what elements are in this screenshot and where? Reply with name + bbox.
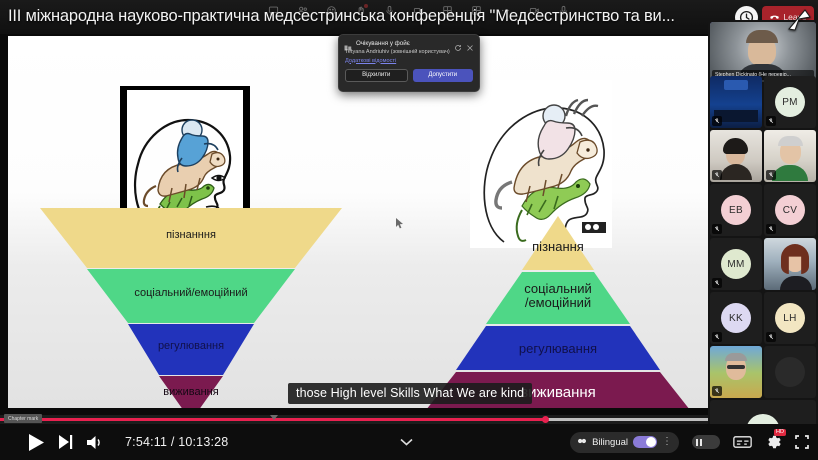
cursor-arrow-icon <box>786 8 812 34</box>
participant-tile-empty[interactable] <box>764 346 816 398</box>
timecode: 7:54:11 / 10:13:28 <box>125 435 228 449</box>
mic-off-icon <box>712 278 722 288</box>
mic-off-icon <box>766 170 776 180</box>
pause-toggle-icon[interactable] <box>692 435 720 449</box>
chevron-down-icon[interactable] <box>400 433 413 451</box>
live-caption: those High level Skills What We are kind <box>288 383 532 404</box>
progress-hover-chip: Chapter mark <box>4 414 42 423</box>
progress-thumb[interactable] <box>542 416 549 423</box>
bilingual-switch[interactable] <box>633 436 657 448</box>
captions-icon[interactable] <box>733 435 752 449</box>
avatar: EB <box>721 195 751 225</box>
admit-button[interactable]: Допустити <box>413 69 474 82</box>
participant-tile[interactable]: EB <box>710 184 762 236</box>
avatar-placeholder <box>775 357 805 387</box>
mic-off-icon <box>712 386 722 396</box>
meeting-title-bar: III міжнародна науково-практична медсест… <box>0 0 818 34</box>
participant-tile[interactable] <box>710 130 762 182</box>
mic-off-icon <box>766 116 776 126</box>
bilingual-icon <box>577 433 587 451</box>
pyramid-label: регулювання <box>40 341 342 353</box>
avatar: MM <box>721 249 751 279</box>
pyramid-band-cognition: пізнанння <box>40 208 342 268</box>
mic-off-icon <box>712 224 722 234</box>
progress-bar[interactable]: Chapter mark <box>0 415 708 424</box>
volume-icon[interactable] <box>86 435 102 450</box>
avatar: CV <box>775 195 805 225</box>
pyramid-label: пізнання <box>408 240 708 254</box>
participant-tile[interactable]: PM <box>764 76 816 128</box>
player-control-bar: 7:54:11 / 10:13:28 Bilingual ⋮ <box>0 424 818 460</box>
play-icon[interactable] <box>28 433 45 452</box>
mic-off-icon <box>766 224 776 234</box>
dialog-actions: Відхилити Допустити <box>339 64 479 87</box>
mic-off-icon <box>766 332 776 342</box>
upright-pyramid-right: пізнання соціальний /емоційний регулюван… <box>408 212 708 408</box>
participant-tile[interactable] <box>710 76 762 128</box>
participant-tile[interactable]: CV <box>764 184 816 236</box>
dialog-title: Очікування у фойє <box>356 40 450 47</box>
participant-tile[interactable]: MM <box>710 238 762 290</box>
pyramid-band-social-emotional: соціальний/емоційний <box>40 269 342 323</box>
pyramid-label: соціальний /емоційний <box>408 282 708 309</box>
dialog-header: Очікування у фойє <box>339 35 479 48</box>
next-track-icon[interactable] <box>58 434 73 450</box>
pyramid-band-regulation: регулювання <box>40 324 342 375</box>
chapter-marker[interactable] <box>270 415 278 420</box>
participant-tile[interactable]: LH <box>764 292 816 344</box>
pyramid-label: пізнанння <box>40 230 342 242</box>
teams-recording-player: III міжнародна науково-практична медсест… <box>0 0 818 460</box>
pyramid-label: регулювання <box>408 342 708 356</box>
participant-rail[interactable]: Stephen Dickinato (Не перевір... PM <box>708 20 818 424</box>
inverted-pyramid-left: пізнанння соціальний/емоційний регулюван… <box>40 208 342 408</box>
decline-button[interactable]: Відхилити <box>345 69 408 82</box>
settings-hd-icon[interactable]: HD <box>765 434 781 450</box>
participant-tile[interactable]: KK <box>710 292 762 344</box>
stage-cursor-icon <box>396 216 404 234</box>
lobby-admit-dialog[interactable]: Очікування у фойє Tetyana Andriuhiv (зов… <box>338 34 480 92</box>
avatar: PM <box>775 87 805 117</box>
participant-tile[interactable] <box>710 346 762 398</box>
participant-tile[interactable] <box>764 238 816 290</box>
bilingual-toggle-pill[interactable]: Bilingual ⋮ <box>570 432 679 453</box>
lobby-icon <box>344 39 352 47</box>
hd-badge: HD <box>774 429 786 436</box>
kebab-menu-icon[interactable]: ⋮ <box>662 437 672 447</box>
avatar: LH <box>775 303 805 333</box>
bilingual-label: Bilingual <box>592 437 628 448</box>
refresh-icon[interactable] <box>454 39 462 47</box>
participant-tile[interactable] <box>764 130 816 182</box>
mic-off-icon <box>712 170 722 180</box>
avatar: KK <box>721 303 751 333</box>
close-icon[interactable] <box>466 39 474 47</box>
fullscreen-icon[interactable] <box>794 434 810 450</box>
mic-off-icon <box>712 116 722 126</box>
meeting-title: III міжнародна науково-практична медсест… <box>8 7 748 26</box>
pyramid-label: соціальний/емоційний <box>40 288 342 300</box>
mic-off-icon <box>712 332 722 342</box>
